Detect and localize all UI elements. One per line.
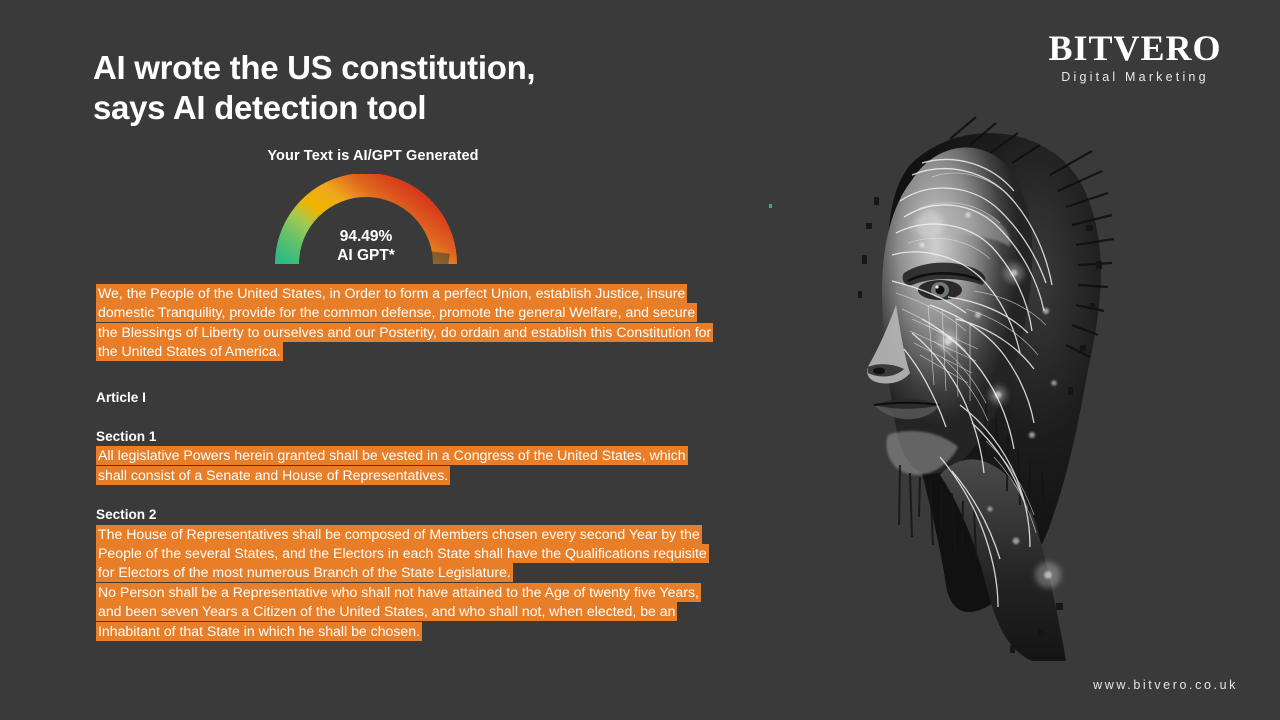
gauge-sublabel: AI GPT* [275, 247, 457, 265]
highlighted-text: The House of Representatives shall be co… [96, 525, 709, 583]
stray-pixel-artifact [769, 204, 772, 208]
gauge-percent: 94.49% [275, 228, 457, 246]
heading-article-1: Article I [96, 388, 716, 407]
paragraph-section-1: All legislative Powers herein granted sh… [96, 446, 716, 485]
page-title: AI wrote the US constitution, says AI de… [93, 48, 733, 129]
face-artwork [800, 105, 1150, 665]
brand-logo: BITVERO Digital Marketing [1030, 30, 1240, 84]
spacer [96, 407, 716, 427]
ai-detection-gauge: Your Text is AI/GPT Generated [93, 148, 693, 266]
spacer [96, 362, 716, 388]
gauge-readout: 94.49% AI GPT* [275, 228, 457, 265]
paragraph-section-2b: No Person shall be a Representative who … [96, 583, 716, 641]
heading-section-1: Section 1 [96, 427, 716, 446]
headline-line-1: AI wrote the US constitution, [93, 49, 535, 86]
gauge-caption: Your Text is AI/GPT Generated [53, 148, 693, 164]
digital-face-illustration-icon [800, 105, 1150, 665]
paragraph-section-2a: The House of Representatives shall be co… [96, 525, 716, 583]
footer-website-url: www.bitvero.co.uk [1093, 678, 1238, 692]
highlighted-text: All legislative Powers herein granted sh… [96, 446, 688, 484]
highlighted-text: We, the People of the United States, in … [96, 284, 713, 361]
headline-line-2: says AI detection tool [93, 89, 426, 126]
highlighted-text: No Person shall be a Representative who … [96, 583, 701, 641]
slide-canvas: BITVERO Digital Marketing AI wrote the U… [0, 0, 1280, 720]
gauge-graphic: 94.49% AI GPT* [275, 174, 457, 266]
brand-name: BITVERO [1030, 30, 1240, 66]
constitution-document: We, the People of the United States, in … [96, 284, 716, 641]
brand-tagline: Digital Marketing [1030, 70, 1240, 84]
paragraph-preamble: We, the People of the United States, in … [96, 284, 716, 362]
spacer [96, 485, 716, 505]
heading-section-2: Section 2 [96, 505, 716, 524]
